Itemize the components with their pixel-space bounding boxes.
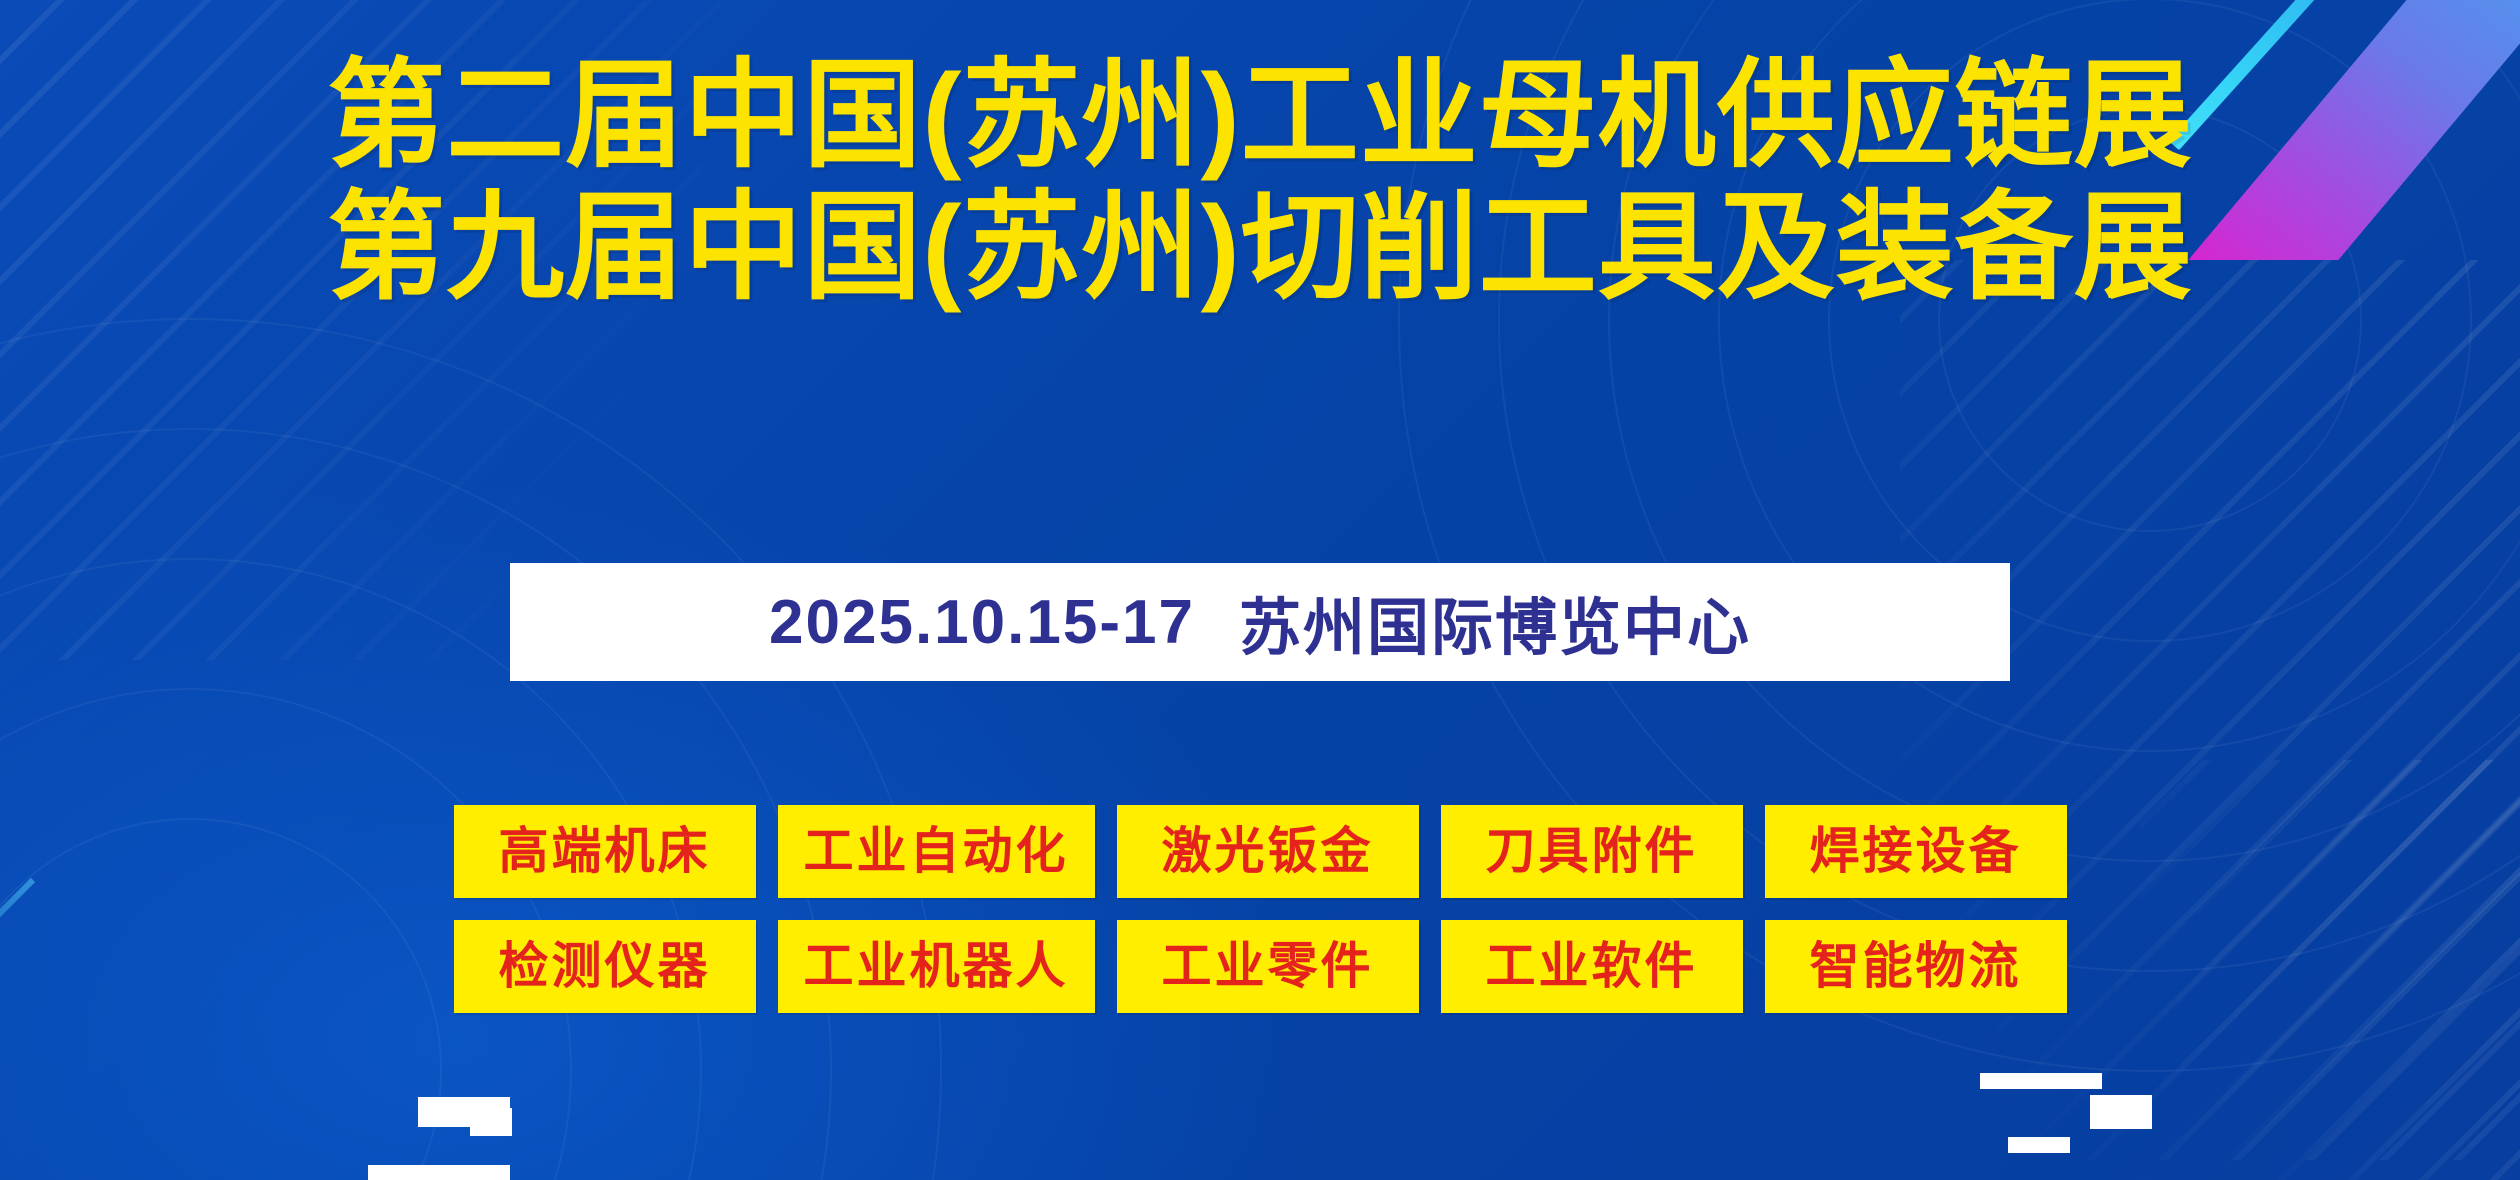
- event-date: 2025.10.15-17: [769, 587, 1195, 658]
- page-title: 第二届中国(苏州)工业母机供应链展 第九届中国(苏州)切削工具及装备展: [0, 50, 2520, 314]
- date-venue-section: 2025.10.15-17 苏州国际博览中心: [0, 545, 2520, 695]
- category-tag[interactable]: 刀具附件: [1441, 805, 1743, 898]
- ornament-right-2: [2090, 1095, 2152, 1129]
- tag-row: 高端机床 工业自动化 激光钣金 刀具附件 焊接设备: [454, 805, 2067, 898]
- exhibition-promo-banner: 第二届中国(苏州)工业母机供应链展 第九届中国(苏州)切削工具及装备展 2025…: [0, 0, 2520, 1180]
- date-venue-bar: 2025.10.15-17 苏州国际博览中心: [510, 563, 2010, 681]
- diagonal-hatch-right: [1900, 260, 2520, 1160]
- ornament-right-1: [1980, 1073, 2102, 1089]
- tag-row: 检测仪器 工业机器人 工业零件 工业软件 智能物流: [454, 920, 2067, 1013]
- title-line-2: 第九届中国(苏州)切削工具及装备展: [0, 182, 2520, 314]
- category-tag[interactable]: 检测仪器: [454, 920, 756, 1013]
- category-tag[interactable]: 焊接设备: [1765, 805, 2067, 898]
- ornament-right-3: [2008, 1137, 2070, 1153]
- category-tag[interactable]: 工业机器人: [778, 920, 1095, 1013]
- event-venue: 苏州国际博览中心: [1239, 577, 1751, 667]
- category-tag[interactable]: 高端机床: [454, 805, 756, 898]
- ornament-left-2: [368, 1165, 510, 1180]
- category-tag[interactable]: 工业软件: [1441, 920, 1743, 1013]
- concentric-arcs-left-icon: [0, 320, 940, 1180]
- title-line-1: 第二届中国(苏州)工业母机供应链展: [0, 50, 2520, 182]
- date-venue-text: 2025.10.15-17 苏州国际博览中心: [510, 563, 2010, 681]
- category-tag[interactable]: 工业零件: [1117, 920, 1419, 1013]
- category-tag[interactable]: 智能物流: [1765, 920, 2067, 1013]
- category-tag[interactable]: 激光钣金: [1117, 805, 1419, 898]
- ornament-left-step: [470, 1108, 512, 1136]
- category-tag-grid: 高端机床 工业自动化 激光钣金 刀具附件 焊接设备 检测仪器 工业机器人 工业零…: [0, 805, 2520, 1013]
- category-tag[interactable]: 工业自动化: [778, 805, 1095, 898]
